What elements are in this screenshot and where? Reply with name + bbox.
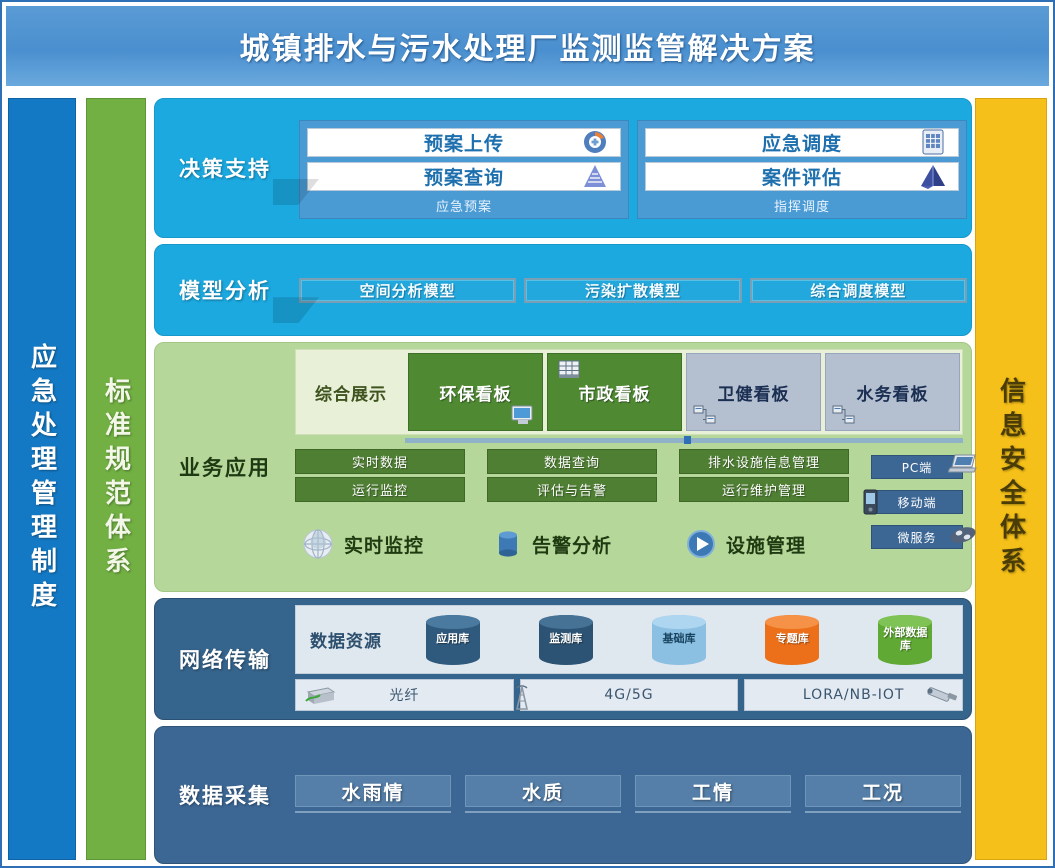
network-tech-4g5g[interactable]: 4G/5G: [520, 679, 739, 711]
database-monitoring-label: 监测库: [549, 633, 582, 646]
database-external-label: 外部数据库: [878, 627, 932, 652]
data-card-engineering-status-label: 工情: [692, 778, 734, 805]
kanban-water-affairs[interactable]: 水务看板: [825, 353, 960, 431]
pyramid-dark-icon: [918, 161, 948, 191]
network-tech-lora-nbiot[interactable]: LORA/NB-IOT: [744, 679, 963, 711]
function-foot-realtime-monitor[interactable]: 实时监控: [295, 505, 465, 583]
decision-groups: 预案上传 预案查询: [295, 112, 971, 225]
function-foot-facility-management[interactable]: 设施管理: [679, 505, 849, 583]
layer-network-transmission: 网络传输 数据资源 应用库: [154, 598, 972, 720]
function-assessment-alarm[interactable]: 评估与告警: [487, 477, 657, 502]
architecture-layers: 决策支持 预案上传: [154, 98, 972, 864]
model-item-pollution-diffusion-label: 污染扩散模型: [585, 280, 681, 301]
database-monitoring[interactable]: 监测库: [509, 615, 622, 665]
pipeline-trench-photo: [635, 811, 791, 813]
data-collection-cards: 水雨情 水质 工情: [295, 767, 971, 823]
business-function-columns: 实时数据 运行监控: [295, 449, 963, 583]
device-microservice-label: 微服务: [897, 529, 936, 546]
layer-model-analysis-label: 模型分析: [155, 275, 295, 305]
device-mobile[interactable]: 移动端: [871, 490, 963, 514]
chart-node-icon: [693, 404, 719, 426]
pillar-emergency-management: 应急处理管理制度: [8, 98, 76, 860]
cylinder-shape: 专题库: [765, 615, 819, 665]
data-card-water-quality-label: 水质: [522, 778, 564, 805]
layer-model-analysis: 模型分析 空间分析模型 污染扩散模型 综合调度模型: [154, 244, 972, 336]
function-column-facility: 排水设施信息管理 运行维护管理: [679, 449, 849, 583]
cylinder-shape: 基础库: [652, 615, 706, 665]
function-operation-maintenance-label: 运行维护管理: [722, 480, 806, 499]
laptop-icon: [948, 452, 972, 472]
sensor-probe-icon: [924, 682, 958, 706]
decision-group-emergency-plan-caption: 应急预案: [307, 196, 621, 215]
model-item-spatial-label: 空间分析模型: [360, 280, 456, 301]
data-card-engineering-status[interactable]: 工情: [635, 775, 791, 813]
decision-group-command-dispatch-caption: 指挥调度: [645, 196, 959, 215]
data-card-working-condition-label: 工况: [862, 778, 904, 805]
network-content: 数据资源 应用库 监测库: [295, 599, 971, 719]
network-tech-fiber[interactable]: 光纤: [295, 679, 514, 711]
data-card-working-condition[interactable]: 工况: [805, 775, 961, 813]
function-data-query-label: 数据查询: [544, 452, 600, 471]
decision-group-emergency-plan: 预案上传 预案查询: [299, 120, 629, 219]
kanban-row: 综合展示 环保看板: [295, 349, 963, 435]
globe-icon: [299, 525, 337, 563]
kanban-lead-label: 综合展示: [296, 350, 406, 434]
database-thematic[interactable]: 专题库: [736, 615, 849, 665]
decision-item-case-assessment-label: 案件评估: [762, 163, 842, 190]
kanban-water-affairs-label: 水务看板: [857, 380, 929, 405]
layer-data-collection: 数据采集 水雨情 水质 工情: [154, 726, 972, 864]
grid-table-icon: [918, 127, 948, 157]
kanban-underline: [405, 438, 963, 443]
decision-item-case-assessment[interactable]: 案件评估: [645, 162, 959, 191]
pillar-standards-system-label: 标准规范体系: [98, 377, 135, 581]
network-tech-lora-nbiot-label: LORA/NB-IOT: [803, 687, 905, 703]
cloud-service-icon: [948, 522, 972, 542]
mobile-phone-icon: [860, 488, 884, 508]
pyramid-light-icon: [580, 161, 610, 191]
function-foot-realtime-monitor-label: 实时监控: [344, 531, 424, 558]
refresh-cycle-icon: [580, 127, 610, 157]
layer-data-collection-label: 数据采集: [155, 780, 295, 810]
function-realtime-data[interactable]: 实时数据: [295, 449, 465, 474]
function-column-monitoring: 实时数据 运行监控: [295, 449, 465, 583]
kanban-municipal-label: 市政看板: [579, 380, 651, 405]
model-item-integrated-dispatch[interactable]: 综合调度模型: [750, 278, 967, 303]
data-card-water-rain-label: 水雨情: [341, 778, 404, 805]
network-tech-fiber-label: 光纤: [389, 685, 419, 705]
data-card-water-quality-head: 水质: [465, 775, 621, 807]
database-application[interactable]: 应用库: [396, 615, 509, 665]
model-item-spatial[interactable]: 空间分析模型: [299, 278, 516, 303]
data-card-working-condition-head: 工况: [805, 775, 961, 807]
kanban-health[interactable]: 卫健看板: [686, 353, 821, 431]
cylinder-shape: 应用库: [426, 615, 480, 665]
data-card-water-rain[interactable]: 水雨情: [295, 775, 451, 813]
database-foundation[interactable]: 基础库: [622, 615, 735, 665]
decision-item-plan-query[interactable]: 预案查询: [307, 162, 621, 191]
business-content: 综合展示 环保看板: [295, 343, 971, 591]
function-foot-facility-management-label: 设施管理: [726, 531, 806, 558]
client-devices: PC端 移动端: [871, 449, 963, 583]
data-card-engineering-status-head: 工情: [635, 775, 791, 807]
database-external[interactable]: 外部数据库: [849, 615, 962, 665]
layer-decision-support-label: 决策支持: [155, 153, 295, 183]
database-application-label: 应用库: [436, 633, 469, 646]
database-foundation-label: 基础库: [663, 633, 696, 646]
database-thematic-label: 专题库: [776, 633, 809, 646]
function-foot-alarm-analysis-label: 告警分析: [532, 531, 612, 558]
decision-item-plan-query-label: 预案查询: [424, 163, 504, 190]
model-item-pollution-diffusion[interactable]: 污染扩散模型: [524, 278, 741, 303]
diagram-title-bar: 城镇排水与污水处理厂监测监管解决方案: [6, 6, 1049, 86]
decision-item-emergency-dispatch[interactable]: 应急调度: [645, 128, 959, 157]
pillar-information-security-label: 信息安全体系: [993, 377, 1030, 581]
decision-item-plan-upload-label: 预案上传: [424, 129, 504, 156]
layer-business-application: 业务应用 综合展示 环保看板: [154, 342, 972, 592]
chart-node-icon: [832, 404, 858, 426]
device-pc[interactable]: PC端: [871, 455, 963, 479]
pillar-standards-system: 标准规范体系: [86, 98, 146, 860]
layer-business-application-label: 业务应用: [155, 343, 295, 591]
decision-item-plan-upload[interactable]: 预案上传: [307, 128, 621, 157]
network-technology-row: 光纤 4G/5G: [295, 679, 963, 711]
device-mobile-label: 移动端: [897, 494, 936, 511]
function-operation-monitoring[interactable]: 运行监控: [295, 477, 465, 502]
function-realtime-data-label: 实时数据: [352, 452, 408, 471]
fiber-switch-icon: [302, 684, 336, 708]
function-operation-maintenance[interactable]: 运行维护管理: [679, 477, 849, 502]
function-operation-monitoring-label: 运行监控: [352, 480, 408, 499]
page-title: 城镇排水与污水处理厂监测监管解决方案: [240, 24, 816, 68]
kanban-environment-label: 环保看板: [440, 380, 512, 405]
layer-decision-support: 决策支持 预案上传: [154, 98, 972, 238]
monitor-icon: [510, 404, 536, 426]
cylinder-shape: 监测库: [539, 615, 593, 665]
kanban-municipal[interactable]: 市政看板: [547, 353, 682, 431]
cylinder-shape: 外部数据库: [878, 615, 932, 665]
data-card-water-quality[interactable]: 水质: [465, 775, 621, 813]
data-resource-lead-label: 数据资源: [296, 627, 396, 652]
antenna-tower-icon: [509, 683, 543, 707]
device-pc-label: PC端: [902, 459, 933, 476]
decision-group-command-dispatch: 应急调度: [637, 120, 967, 219]
decision-item-emergency-dispatch-label: 应急调度: [762, 129, 842, 156]
layer-network-transmission-label: 网络传输: [155, 599, 295, 719]
network-tech-4g5g-label: 4G/5G: [604, 687, 653, 703]
sedimentation-tanks-photo: [465, 811, 621, 813]
data-card-water-rain-head: 水雨情: [295, 775, 451, 807]
building-icon: [556, 358, 582, 380]
kanban-environment[interactable]: 环保看板: [408, 353, 543, 431]
function-drainage-facility-info-label: 排水设施信息管理: [708, 452, 820, 471]
kanban-health-label: 卫健看板: [718, 380, 790, 405]
function-assessment-alarm-label: 评估与告警: [537, 480, 607, 499]
pillar-information-security: 信息安全体系: [975, 98, 1047, 860]
play-circle-icon: [683, 525, 719, 563]
model-items: 空间分析模型 污染扩散模型 综合调度模型: [295, 268, 971, 313]
model-item-integrated-dispatch-label: 综合调度模型: [810, 280, 906, 301]
pillar-emergency-management-label: 应急处理管理制度: [24, 343, 61, 615]
function-drainage-facility-info[interactable]: 排水设施信息管理: [679, 449, 849, 474]
scada-schematic-photo: [805, 811, 961, 813]
solution-architecture-diagram: 城镇排水与污水处理厂监测监管解决方案 应急处理管理制度 标准规范体系 信息安全体…: [0, 0, 1055, 868]
function-data-query[interactable]: 数据查询: [487, 449, 657, 474]
data-resource-row: 数据资源 应用库 监测库: [295, 605, 963, 674]
river-levee-photo: [295, 811, 451, 813]
function-foot-alarm-analysis[interactable]: 告警分析: [487, 505, 657, 583]
function-column-query: 数据查询 评估与告警: [487, 449, 657, 583]
database-cylinder-icon: [491, 525, 525, 563]
device-microservice[interactable]: 微服务: [871, 525, 963, 549]
